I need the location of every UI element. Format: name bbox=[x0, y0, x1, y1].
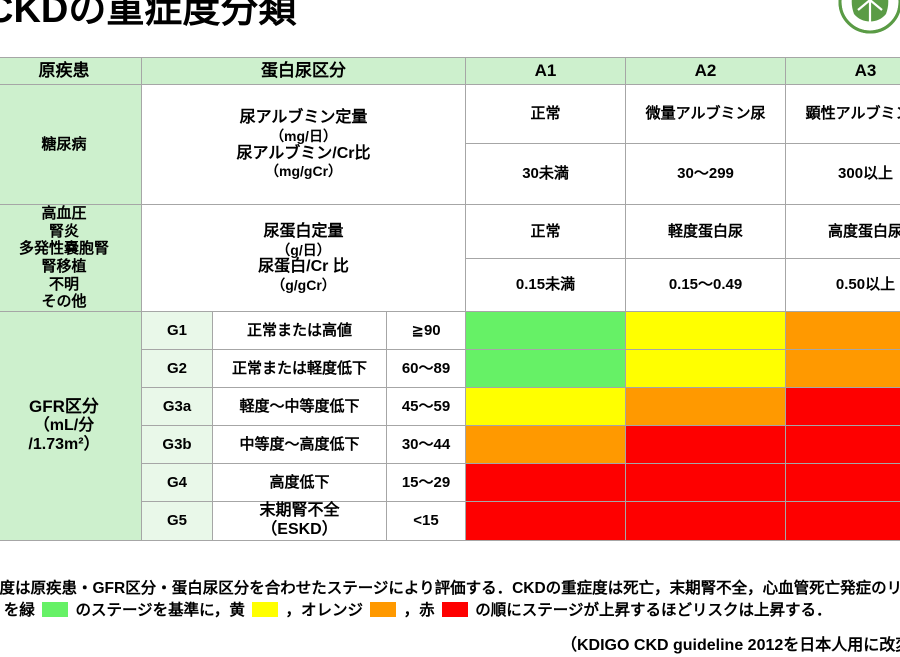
green-circular-leaf-logo bbox=[834, 0, 900, 38]
footnote: 症度は原疾患・GFR区分・蛋白尿区分を合わせたステージにより評価する．CKDの重… bbox=[0, 578, 900, 622]
disease-line-1: 高血圧 bbox=[0, 205, 141, 223]
risk-cell-g5-a1 bbox=[466, 502, 626, 541]
risk-cell-g1-a1 bbox=[466, 312, 626, 350]
risk-cell-g3a-a2 bbox=[626, 388, 786, 426]
measure-line-2: （g/日） bbox=[142, 242, 465, 259]
legend-swatch-green bbox=[42, 602, 68, 617]
risk-cell-g4-a2 bbox=[626, 464, 786, 502]
cell-diabetes-a2-value: 30〜299 bbox=[626, 144, 786, 205]
table-header-row: 原疾患 蛋白尿区分 A1 A2 A3 bbox=[0, 58, 900, 85]
gfr-desc-g5-line-2: （ESKD） bbox=[213, 521, 386, 540]
measure-diabetes: 尿アルブミン定量 （mg/日） 尿アルブミン/Cr比 （mg/gCr） bbox=[142, 85, 466, 205]
risk-cell-g3b-a2 bbox=[626, 426, 786, 464]
disease-line-3: 多発性嚢胞腎 bbox=[0, 240, 141, 258]
gfr-desc-g5-line-1: 末期腎不全 bbox=[213, 502, 386, 521]
header-a3: A3 bbox=[786, 58, 900, 85]
group-diabetes-label-row: 糖尿病 尿アルブミン定量 （mg/日） 尿アルブミン/Cr比 （mg/gCr） … bbox=[0, 85, 900, 144]
footnote-line-2-part-d: ，赤 bbox=[404, 602, 435, 619]
risk-cell-g3a-a3 bbox=[786, 388, 900, 426]
measure-line-3: 尿アルブミン/Cr比 bbox=[142, 145, 465, 164]
header-proteinuria-category: 蛋白尿区分 bbox=[142, 58, 466, 85]
risk-cell-g4-a1 bbox=[466, 464, 626, 502]
gfr-row-g1: GFR区分 （mL/分 /1.73m²） G1 正常または高値 ≧90 bbox=[0, 312, 900, 350]
gfr-stage-g2: G2 bbox=[142, 350, 213, 388]
header-a1: A1 bbox=[466, 58, 626, 85]
measure-line-4: （mg/gCr） bbox=[142, 163, 465, 180]
cell-other-a3-value: 0.50以上 bbox=[786, 259, 900, 312]
cell-diabetes-a3-value: 300以上 bbox=[786, 144, 900, 205]
gfr-axis-line-2: （mL/分 bbox=[0, 417, 141, 436]
measure-line-3: 尿蛋白/Cr 比 bbox=[142, 258, 465, 277]
gfr-range-g1: ≧90 bbox=[387, 312, 466, 350]
risk-cell-g2-a3 bbox=[786, 350, 900, 388]
gfr-desc-g5: 末期腎不全 （ESKD） bbox=[213, 502, 387, 541]
gfr-desc-g3a: 軽度〜中等度低下 bbox=[213, 388, 387, 426]
cell-diabetes-a3-label: 顕性アルブミン尿 bbox=[786, 85, 900, 144]
gfr-desc-g2: 正常または軽度低下 bbox=[213, 350, 387, 388]
cell-other-a2-value: 0.15〜0.49 bbox=[626, 259, 786, 312]
disease-other-list: 高血圧 腎炎 多発性嚢胞腎 腎移植 不明 その他 bbox=[0, 205, 142, 312]
legend-swatch-yellow bbox=[252, 602, 278, 617]
measure-line-1: 尿アルブミン定量 bbox=[142, 109, 465, 128]
risk-cell-g3b-a1 bbox=[466, 426, 626, 464]
gfr-stage-g1: G1 bbox=[142, 312, 213, 350]
disease-line-2: 腎炎 bbox=[0, 223, 141, 241]
risk-cell-g3b-a3 bbox=[786, 426, 900, 464]
gfr-stage-g4: G4 bbox=[142, 464, 213, 502]
measure-other: 尿蛋白定量 （g/日） 尿蛋白/Cr 比 （g/gCr） bbox=[142, 205, 466, 312]
disease-line-6: その他 bbox=[0, 293, 141, 311]
footnote-line-2: ク を緑 のステージを基準に，黄 ，オレンジ ，赤 の順にステージが上昇するほど… bbox=[0, 600, 900, 622]
risk-cell-g5-a2 bbox=[626, 502, 786, 541]
risk-cell-g3a-a1 bbox=[466, 388, 626, 426]
risk-cell-g5-a3 bbox=[786, 502, 900, 541]
gfr-stage-g3a: G3a bbox=[142, 388, 213, 426]
cell-other-a1-value: 0.15未満 bbox=[466, 259, 626, 312]
footnote-line-2-part-b: のステージを基準に，黄 bbox=[75, 602, 244, 619]
measure-line-1: 尿蛋白定量 bbox=[142, 223, 465, 242]
risk-cell-g2-a2 bbox=[626, 350, 786, 388]
gfr-stage-g5: G5 bbox=[142, 502, 213, 541]
measure-line-4: （g/gCr） bbox=[142, 277, 465, 294]
gfr-range-g3b: 30〜44 bbox=[387, 426, 466, 464]
cell-diabetes-a1-value: 30未満 bbox=[466, 144, 626, 205]
legend-swatch-orange bbox=[370, 602, 396, 617]
footnote-line-1: 症度は原疾患・GFR区分・蛋白尿区分を合わせたステージにより評価する．CKDの重… bbox=[0, 578, 900, 600]
page-title: CKDの重症度分類 bbox=[0, 0, 296, 32]
gfr-range-g4: 15〜29 bbox=[387, 464, 466, 502]
gfr-axis-line-3: /1.73m²） bbox=[0, 436, 141, 455]
footnote-line-1-text: 症度は原疾患・GFR区分・蛋白尿区分を合わせたステージにより評価する．CKDの重… bbox=[0, 580, 900, 597]
gfr-desc-g1: 正常または高値 bbox=[213, 312, 387, 350]
gfr-axis-line-1: GFR区分 bbox=[0, 397, 141, 417]
cell-diabetes-a1-label: 正常 bbox=[466, 85, 626, 144]
gfr-stage-g3b: G3b bbox=[142, 426, 213, 464]
risk-cell-g1-a3 bbox=[786, 312, 900, 350]
cell-diabetes-a2-label: 微量アルブミン尿 bbox=[626, 85, 786, 144]
ckd-severity-table: 原疾患 蛋白尿区分 A1 A2 A3 糖尿病 尿アルブミン定量 （mg/日） 尿… bbox=[0, 57, 900, 541]
risk-cell-g4-a3 bbox=[786, 464, 900, 502]
risk-cell-g1-a2 bbox=[626, 312, 786, 350]
cell-other-a3-label: 高度蛋白尿 bbox=[786, 205, 900, 259]
footnote-line-2-part-c: ，オレンジ bbox=[285, 602, 363, 619]
cell-other-a1-label: 正常 bbox=[466, 205, 626, 259]
gfr-range-g3a: 45〜59 bbox=[387, 388, 466, 426]
group-other-label-row: 高血圧 腎炎 多発性嚢胞腎 腎移植 不明 その他 尿蛋白定量 （g/日） 尿蛋白… bbox=[0, 205, 900, 259]
header-a2: A2 bbox=[626, 58, 786, 85]
gfr-axis-label: GFR区分 （mL/分 /1.73m²） bbox=[0, 312, 142, 541]
measure-line-2: （mg/日） bbox=[142, 128, 465, 145]
gfr-desc-g4: 高度低下 bbox=[213, 464, 387, 502]
risk-cell-g2-a1 bbox=[466, 350, 626, 388]
disease-line-4: 腎移植 bbox=[0, 258, 141, 276]
footnote-line-2-part-a: ク を緑 bbox=[0, 602, 35, 619]
gfr-range-g5: <15 bbox=[387, 502, 466, 541]
source-credit: （KDIGO CKD guideline 2012を日本人用に改変 bbox=[561, 631, 900, 655]
footnote-line-2-part-e: の順にステージが上昇するほどリスクは上昇する． bbox=[475, 602, 831, 619]
legend-swatch-red bbox=[442, 602, 468, 617]
disease-line-5: 不明 bbox=[0, 276, 141, 294]
header-primary-disease: 原疾患 bbox=[0, 58, 142, 85]
cell-other-a2-label: 軽度蛋白尿 bbox=[626, 205, 786, 259]
gfr-desc-g3b: 中等度〜高度低下 bbox=[213, 426, 387, 464]
gfr-range-g2: 60〜89 bbox=[387, 350, 466, 388]
disease-diabetes: 糖尿病 bbox=[0, 85, 142, 205]
